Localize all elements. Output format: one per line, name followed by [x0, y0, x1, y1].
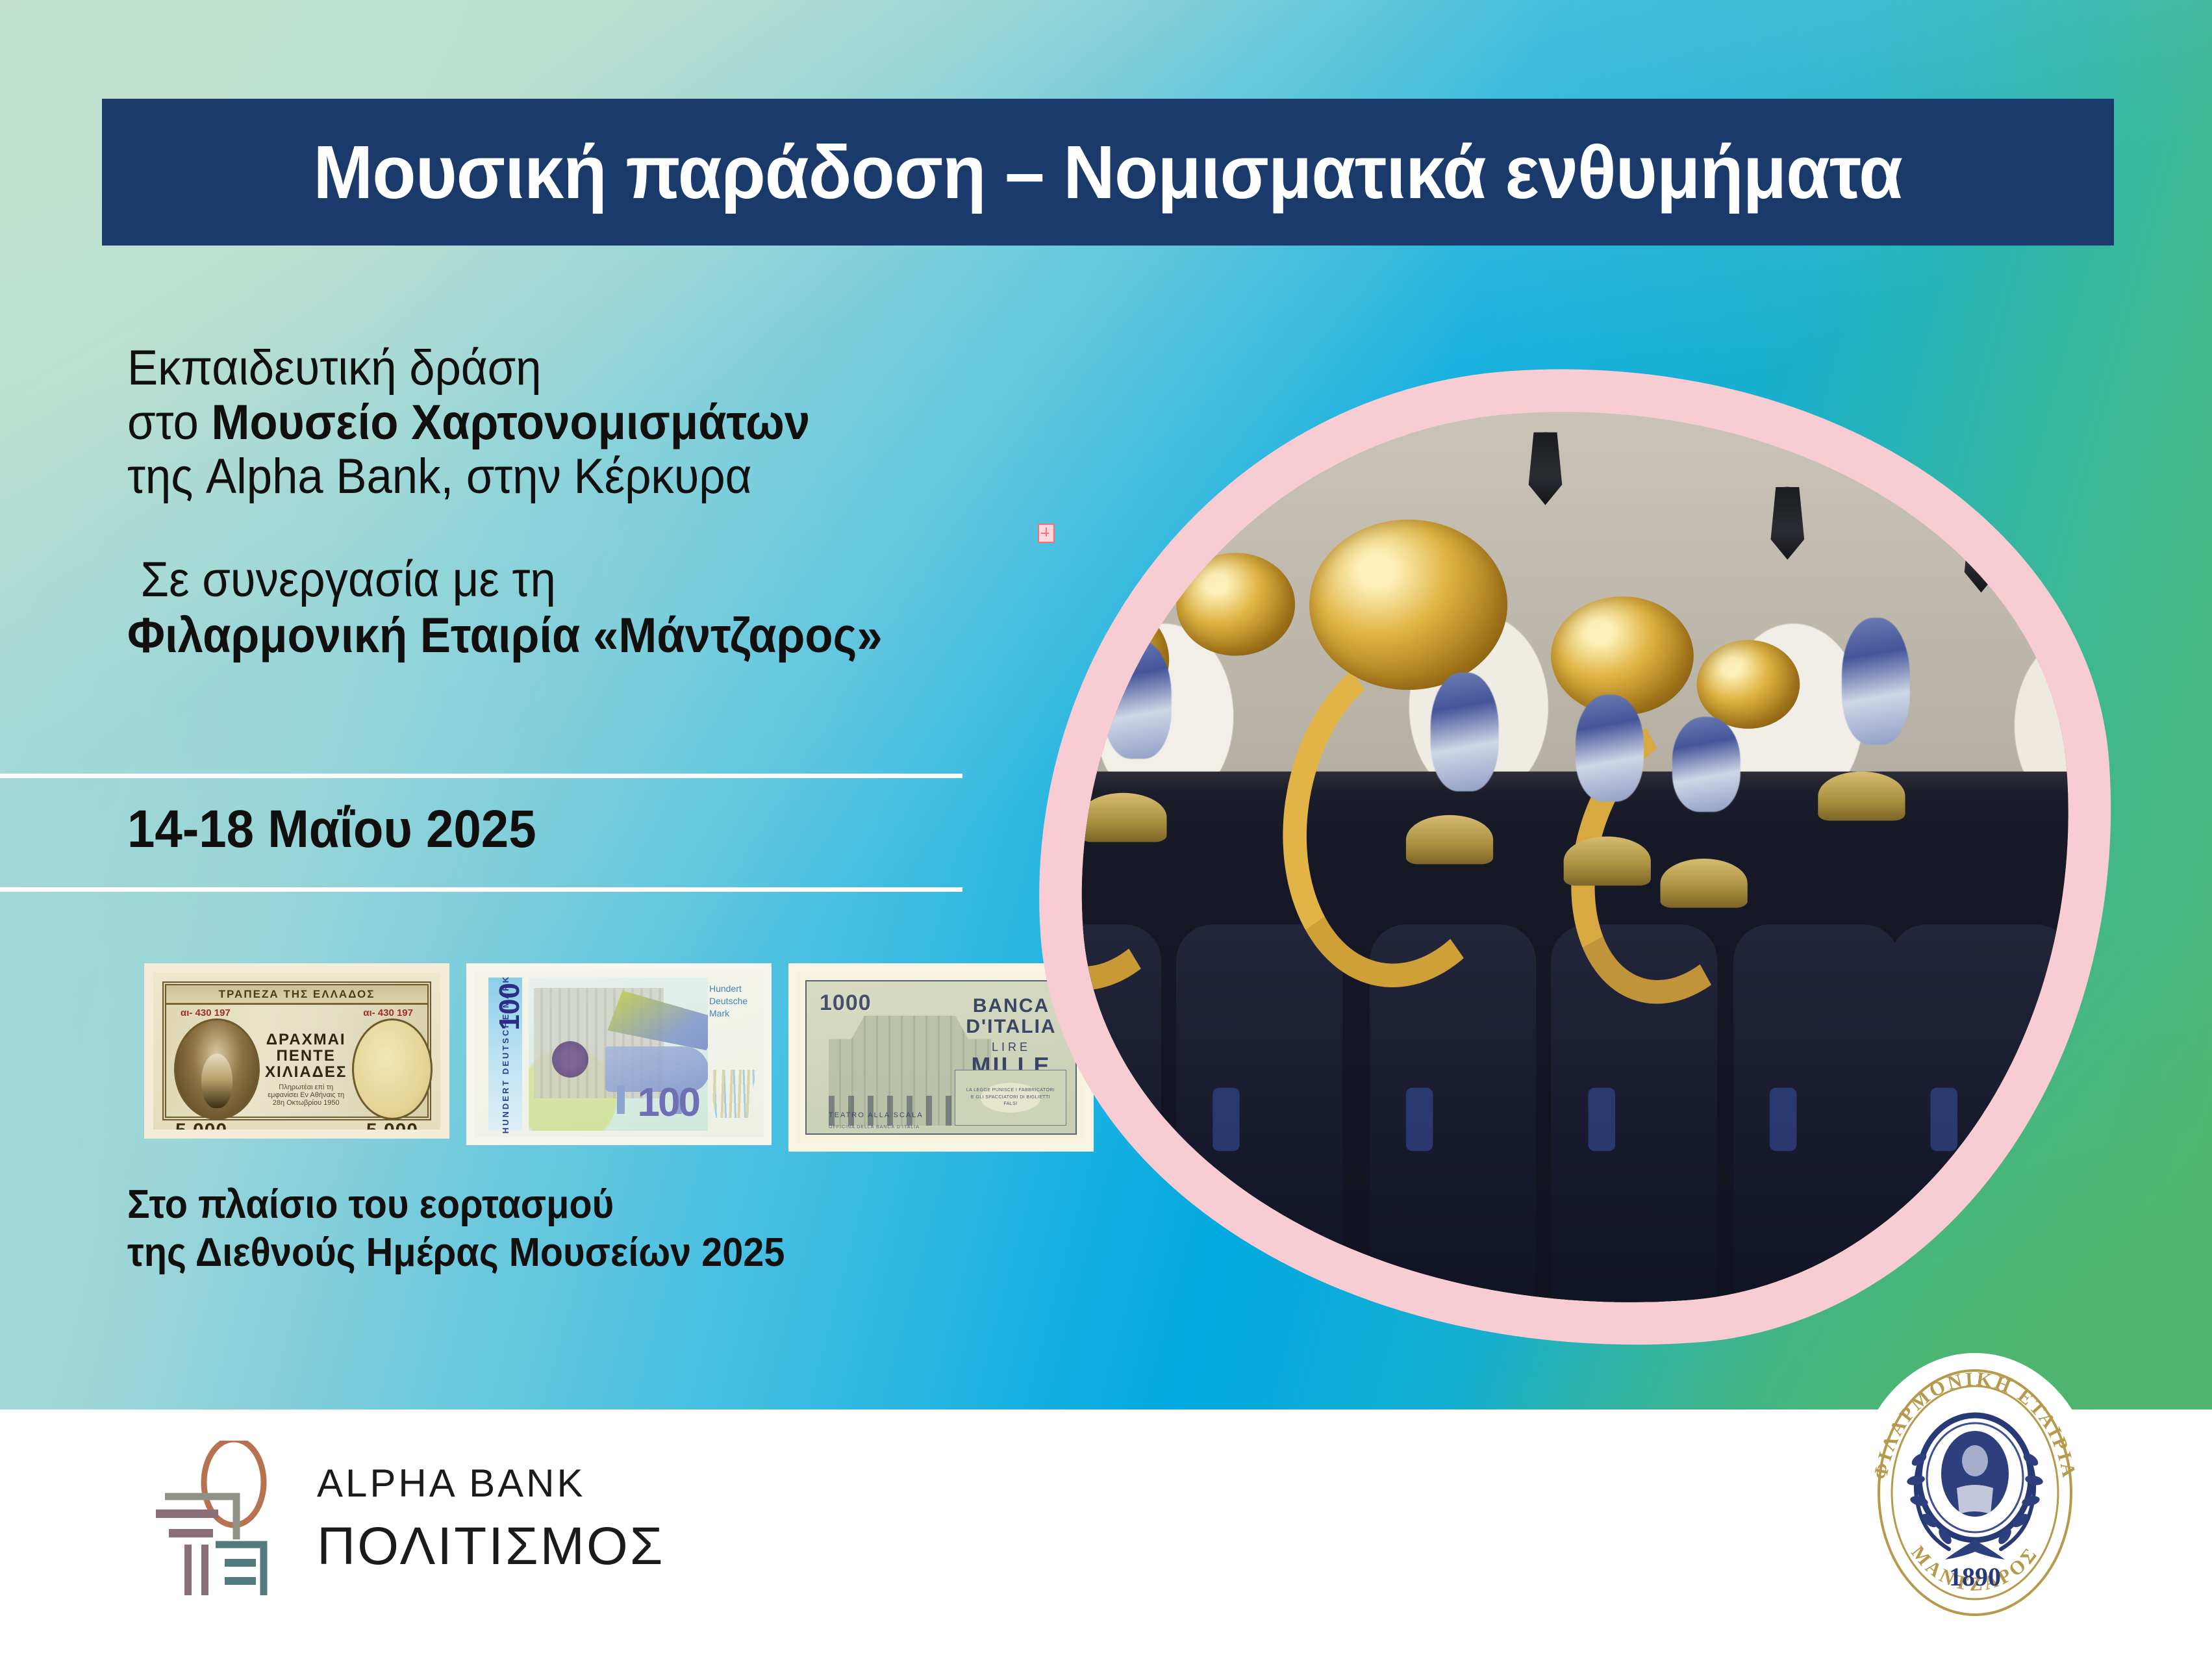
- intro-line-1: Εκπαιδευτική δράση: [127, 341, 1003, 396]
- band-helmet: [1406, 815, 1493, 865]
- event-dates: 14-18 Μαΐου 2025: [127, 799, 536, 860]
- band-photo-blob: Φιλαρμονική μπάντα με σούζαφωνα και μπλε…: [1037, 368, 2115, 1350]
- band-member: [1891, 924, 2073, 1341]
- banknote-strip: ΤΡΑΠΕΖΑ ΤΗΣ ΕΛΛΑΔΟΣ αι- 430 197 αι- 430 …: [144, 963, 1094, 1152]
- banknote-germany-denomination: 100: [638, 1080, 699, 1126]
- banknote-greece-corner-right: 5.000: [366, 1120, 418, 1139]
- banknote-greece-frame: ΤΡΑΠΕΖΑ ΤΗΣ ΕΛΛΑΔΟΣ αι- 430 197 αι- 430 …: [162, 981, 431, 1120]
- band-member: [1733, 924, 1899, 1341]
- banknote-germany-100: HUNDERT DEUTSCHE MARK 100 100 Hundert De…: [466, 963, 772, 1145]
- occasion-line-2: της Διεθνούς Ημέρας Μουσείων 2025: [127, 1229, 785, 1277]
- banknote-greece-body: ΔΡΑΧΜΑΙ ΠΕΝΤΕ ΧΙΛΙΑΔΕΣ Πληρωτέαι επί τη …: [166, 1018, 427, 1120]
- banknote-greece-portrait: [174, 1018, 260, 1120]
- banknote-greece-value-2: ΠΕΝΤΕ: [265, 1048, 347, 1064]
- banknote-germany-vertical-denomination: 100: [494, 983, 526, 1030]
- band-helmet: [1660, 859, 1747, 908]
- banknote-greece-fineprint: Πληρωτέαι επί τη εμφανίσει Εν Αθήναις τη…: [265, 1083, 347, 1107]
- banknote-greece-serials: αι- 430 197 αι- 430 197: [166, 1005, 427, 1018]
- alpha-bank-sub: ΠΟΛΙΤΙΣΜΟΣ: [317, 1516, 664, 1577]
- sousaphone-bell: [1176, 553, 1295, 656]
- banknote-greece-watermark-oval: [352, 1018, 433, 1120]
- banknote-greece-corner-left: 5.000: [175, 1120, 227, 1139]
- intro-line-2: στο Μουσείο Χαρτονομισμάτων: [127, 396, 1003, 450]
- occasion-copy: Στο πλαίσιο του εορτασμού της Διεθνούς Η…: [127, 1181, 785, 1278]
- sousaphone-bell: [1309, 520, 1507, 690]
- seal-year: 1890: [1949, 1562, 2001, 1591]
- intro-line-2-bold: Μουσείο Χαρτονομισμάτων: [211, 395, 810, 450]
- alpha-bank-name: ALPHA BANK: [317, 1461, 664, 1506]
- helmet-plume: [1842, 618, 1910, 745]
- banknote-greece-issuer: ΤΡΑΠΕΖΑ ΤΗΣ ΕΛΛΑΔΟΣ: [166, 985, 427, 1005]
- partner-line-2: Φιλαρμονική Εταιρία «Μάντζαρος»: [127, 608, 1003, 664]
- banknote-greece-5000: ΤΡΑΠΕΖΑ ΤΗΣ ΕΛΛΑΔΟΣ αι- 430 197 αι- 430 …: [144, 963, 449, 1139]
- alpha-bank-logo: ALPHA BANK ΠΟΛΙΤΙΣΜΟΣ: [153, 1441, 664, 1597]
- band-member: [1176, 924, 1342, 1341]
- banknote-italy-printer: OFFICINA DELLA BANCA D'ITALIA: [829, 1125, 920, 1130]
- page-title: Μουσική παράδοση – Νομισματικά ενθυμήματ…: [314, 129, 1903, 216]
- title-banner: Μουσική παράδοση – Νομισματικά ενθυμήματ…: [102, 99, 2114, 246]
- partner-line-1: Σε συνεργασία με τη: [140, 552, 1003, 608]
- bundesbank-eagle-icon: [552, 1041, 588, 1078]
- tuning-fork-icon: [705, 1070, 759, 1118]
- banknote-greece-serial-right: αι- 430 197: [363, 1007, 413, 1018]
- banknote-germany-value-2: Deutsche Mark: [709, 995, 757, 1020]
- banknote-italy-caption: TEATRO ALLA SCALA: [829, 1111, 924, 1119]
- mantzaros-seal-logo: ΦΙΛΑΡΜΟΝΙΚΗ ΕΤΑΙΡΙΑ ΜΑΝΤΖΑΡΟΣ: [1854, 1353, 2096, 1632]
- band-helmet: [1818, 771, 1905, 820]
- helmet-plume: [1103, 640, 1172, 759]
- occasion-line-1: Στο πλαίσιο του εορτασμού: [127, 1181, 785, 1229]
- banknote-germany-main: 100: [529, 978, 708, 1131]
- band-helmet: [1563, 837, 1650, 886]
- banknote-italy-denomination: 1000: [820, 991, 872, 1016]
- helmet-plume: [1576, 694, 1644, 802]
- helmet-plume: [1672, 716, 1741, 811]
- band-photograph: Φιλαρμονική μπάντα με σούζαφωνα και μπλε…: [1049, 377, 2102, 1340]
- divider-rule-bottom: [0, 887, 962, 892]
- piano-leg-left: [617, 1085, 625, 1114]
- banknote-greece-value-1: ΔΡΑΧΜΑΙ: [265, 1031, 347, 1048]
- alpha-bank-wordmark: ALPHA BANK ΠΟΛΙΤΙΣΜΟΣ: [317, 1461, 664, 1577]
- divider-rule-top: [0, 774, 962, 778]
- intro-block: Εκπαιδευτική δράση στο Μουσείο Χαρτονομι…: [127, 341, 1003, 504]
- band-photo-content: [1049, 377, 2102, 1340]
- banknote-greece-corners: 5.000 5.000: [166, 1120, 427, 1139]
- alpha-bank-mark-icon: [153, 1441, 287, 1597]
- band-helmet: [1079, 793, 1166, 842]
- sousaphone-bell: [1696, 640, 1800, 729]
- intro-line-2-prefix: στο: [127, 395, 211, 450]
- poster-root: Μουσική παράδοση – Νομισματικά ενθυμήματ…: [0, 0, 2212, 1655]
- banknote-germany-value-1: Hundert: [709, 983, 757, 995]
- helmet-plume: [1430, 673, 1498, 792]
- banknote-greece-center: ΔΡΑΧΜΑΙ ΠΕΝΤΕ ΧΙΛΙΑΔΕΣ Πληρωτέαι επί τη …: [265, 1031, 347, 1107]
- banknote-germany-value-words: Hundert Deutsche Mark: [709, 983, 757, 1020]
- intro-line-3: της Alpha Bank, στην Κέρκυρα: [127, 449, 1003, 504]
- banknote-greece-value-3: ΧΙΛΙΑΔΕΣ: [265, 1064, 347, 1080]
- partner-block: Σε συνεργασία με τη Φιλαρμονική Εταιρία …: [127, 552, 1003, 664]
- banknote-greece-serial-left: αι- 430 197: [181, 1007, 231, 1018]
- intro-copy: Εκπαιδευτική δράση στο Μουσείο Χαρτονομι…: [127, 341, 1069, 664]
- crosshair-marker-icon: [1038, 524, 1055, 543]
